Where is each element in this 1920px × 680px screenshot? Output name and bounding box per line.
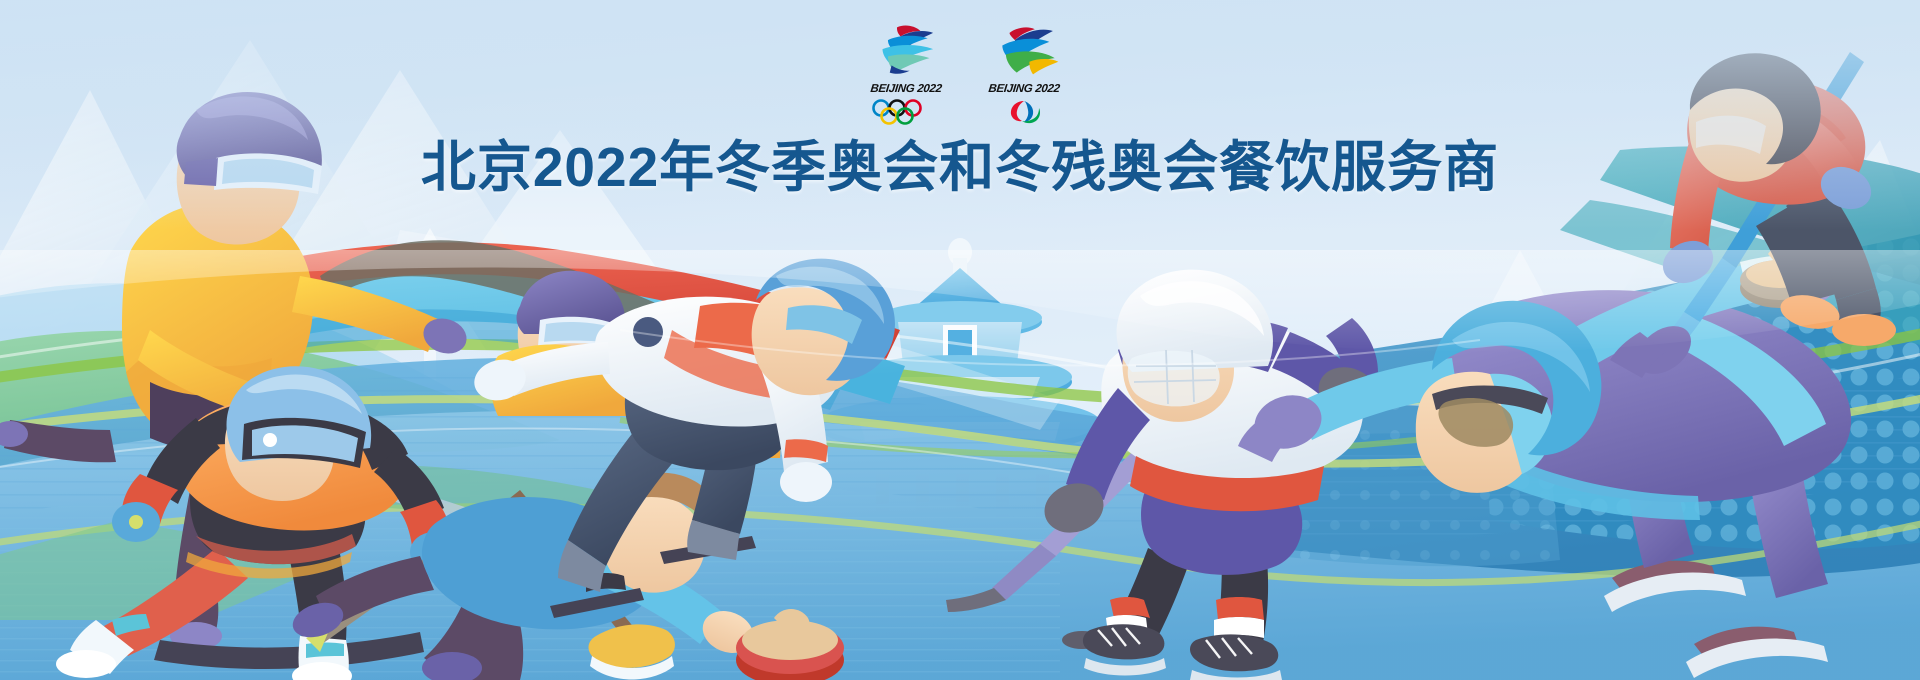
- olympic-emblem: BEIJING 2022: [860, 22, 952, 122]
- olympic-rings-icon: [868, 99, 944, 125]
- emblem-row: BEIJING 2022 BEIJING 2022: [860, 22, 1070, 122]
- olympic-wordmark: BEIJING 2022: [859, 84, 952, 96]
- paralympic-emblem: BEIJING 2022: [978, 22, 1070, 122]
- page-title: 北京2022年冬季奥会和冬残奥会餐饮服务商: [0, 122, 1920, 202]
- paralympic-agitos-icon: [986, 99, 1062, 125]
- beijing-2022-banner: BEIJING 2022 BEIJING 2022: [0, 0, 1920, 680]
- olympic-emblem-mark: [860, 22, 952, 78]
- paralympic-wordmark: BEIJING 2022: [977, 84, 1070, 96]
- paralympic-emblem-mark: [978, 22, 1070, 78]
